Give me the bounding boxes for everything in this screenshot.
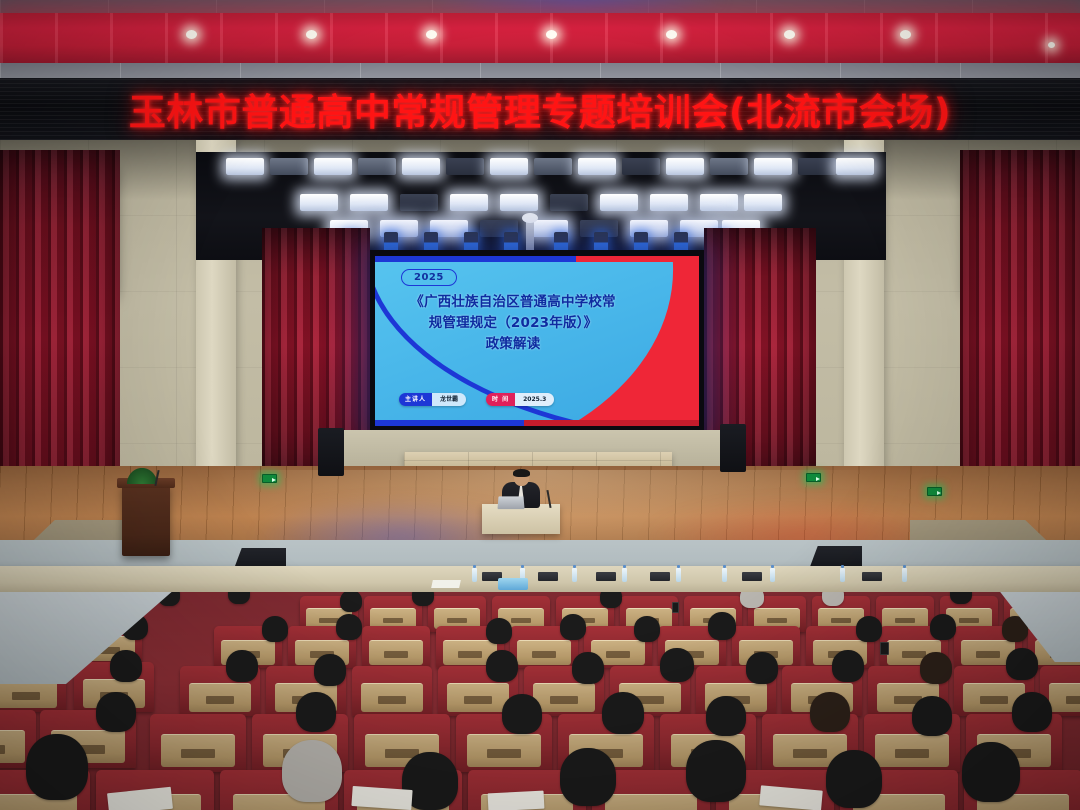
lectern <box>122 484 170 556</box>
document-on-table <box>431 580 461 588</box>
seat <box>362 626 430 668</box>
cove-downlight <box>900 30 911 39</box>
attendee-head <box>856 616 882 642</box>
presenter-name: 龙世霸 <box>432 393 466 406</box>
cove-downlight <box>666 30 677 39</box>
stage-lamp <box>500 194 538 211</box>
stage-lamp <box>300 194 338 211</box>
presentation-slide: 2025 《广西壮族自治区普通高中学校常 规管理规定（2023年版）》 政策解读… <box>375 256 699 426</box>
attendee-head <box>486 618 512 644</box>
truss-row-middle <box>292 194 790 220</box>
cove-downlight <box>186 30 197 39</box>
attendee-head <box>634 616 660 642</box>
attendee-head <box>822 592 844 606</box>
attendee-head <box>1012 692 1052 732</box>
potted-plant <box>127 468 157 484</box>
stage-lamp-housing <box>710 158 748 175</box>
stage-lamp <box>650 194 688 211</box>
stage-lamp-off <box>622 158 660 175</box>
stage-lamp <box>450 194 488 211</box>
attendee-head <box>706 696 746 736</box>
attendee-head <box>930 614 956 640</box>
stage-lamp <box>600 194 638 211</box>
water-bottle <box>572 568 577 582</box>
cove-downlight <box>546 30 557 39</box>
name-plate <box>862 572 882 581</box>
name-plate <box>650 572 670 581</box>
slide-bottom-bar <box>375 420 699 426</box>
slide-title-line-2: 规管理规定（2023年版）》 <box>385 313 641 334</box>
attendee-head <box>560 614 586 640</box>
cove-downlight <box>306 30 317 39</box>
attendee-head <box>740 592 764 608</box>
time-label: 时 间 <box>486 393 515 406</box>
stage-lamp-off <box>550 194 588 211</box>
attendee-head <box>810 692 850 732</box>
attendee-head <box>110 650 142 682</box>
attendee-head <box>412 592 434 606</box>
stage-lamp-housing <box>270 158 308 175</box>
stage-lamp <box>744 194 782 211</box>
attendee-head <box>572 652 604 684</box>
slide-title-line-3: 政策解读 <box>385 334 641 355</box>
audience-seating <box>0 592 1080 810</box>
stage-lamp <box>836 158 874 175</box>
time-value: 2025.3 <box>515 393 554 406</box>
presenter-laptop <box>497 496 524 509</box>
stage-lamp-off <box>400 194 438 211</box>
stage-lamp <box>754 158 792 175</box>
handout-document <box>488 791 545 810</box>
stage-lamp <box>666 158 704 175</box>
attendee-head-foreground <box>560 748 616 806</box>
slide-meta-row: 主讲人 龙世霸 时 间 2025.3 <box>399 393 554 406</box>
attendee-head <box>502 694 542 734</box>
water-bottle <box>770 568 775 582</box>
slide-title-line-1: 《广西壮族自治区普通高中学校常 <box>385 292 641 313</box>
attendee-head <box>226 650 258 682</box>
slide-top-bar <box>375 256 699 262</box>
stage-lamp <box>490 158 528 175</box>
seat <box>150 714 246 772</box>
attendee-head <box>746 652 778 684</box>
presenter-hair <box>513 469 530 477</box>
attendee-head <box>486 650 518 682</box>
water-bottle <box>472 568 477 582</box>
attendee-head <box>262 616 288 642</box>
blue-storage-box <box>498 578 528 590</box>
attendee-head-foreground <box>962 742 1020 802</box>
slide-time-chip: 时 间 2025.3 <box>486 393 554 406</box>
attendee-head <box>314 654 346 686</box>
truss-row-top <box>204 158 878 184</box>
attendee-head-foreground <box>826 750 882 808</box>
stage-lamp <box>226 158 264 175</box>
name-plate <box>596 572 616 581</box>
seat <box>352 666 432 716</box>
attendee-head <box>600 592 622 608</box>
slide-title: 《广西壮族自治区普通高中学校常 规管理规定（2023年版）》 政策解读 <box>385 292 641 355</box>
led-projection-screen: 2025 《广西壮族自治区普通高中学校常 规管理规定（2023年版）》 政策解读… <box>370 250 704 432</box>
stage-lamp <box>402 158 440 175</box>
attendee-head <box>296 692 336 732</box>
exit-sign-right <box>806 473 821 482</box>
attendee-head <box>708 612 736 640</box>
attendee-head-foreground <box>282 740 342 802</box>
exit-sign-left <box>262 474 277 483</box>
stage-lamp-housing <box>358 158 396 175</box>
attendee-head <box>920 652 952 684</box>
attendee-head <box>96 692 136 732</box>
exit-sign-far-right <box>927 487 942 496</box>
name-plate <box>742 572 762 581</box>
attendee-head-foreground <box>686 740 746 802</box>
cove-downlight <box>784 30 795 39</box>
attendee-head <box>660 648 694 682</box>
attendee-head <box>228 592 250 604</box>
water-bottle <box>840 568 845 582</box>
led-banner: 玉林市普通高中常规管理专题培训会(北流市会场) <box>0 78 1080 140</box>
water-bottle <box>676 568 681 582</box>
attendee-head <box>832 650 864 682</box>
stage-lamp <box>578 158 616 175</box>
water-bottle <box>622 568 627 582</box>
stage-lamp-off <box>446 158 484 175</box>
stage-lamp <box>314 158 352 175</box>
attendee-head <box>340 592 362 612</box>
smartphone <box>880 642 889 655</box>
attendee-head <box>912 696 952 736</box>
water-bottle <box>902 568 907 582</box>
conference-hall-photo: 玉林市普通高中常规管理专题培训会(北流市会场) <box>0 0 1080 810</box>
attendee-head <box>336 614 362 640</box>
banner-title-text: 玉林市普通高中常规管理专题培训会(北流市会场) <box>129 82 951 136</box>
presenter-label: 主讲人 <box>399 393 432 406</box>
stage-lamp-housing <box>534 158 572 175</box>
attendee-head-foreground <box>26 734 88 800</box>
handout-document <box>351 786 412 810</box>
smartphone <box>672 602 679 613</box>
water-bottle <box>722 568 727 582</box>
cove-downlight <box>426 30 437 39</box>
stage-speaker-cabinet-left <box>318 428 344 476</box>
cove-downlight <box>1048 42 1055 48</box>
attendee-head <box>1006 648 1038 680</box>
stage-lamp <box>700 194 738 211</box>
slide-presenter-chip: 主讲人 龙世霸 <box>399 393 466 406</box>
red-ceiling-cove <box>0 13 1080 63</box>
slide-year-badge: 2025 <box>401 269 457 286</box>
attendee-head <box>602 692 644 734</box>
stage-lamp <box>350 194 388 211</box>
stage-lamp-off <box>798 158 836 175</box>
name-plate <box>538 572 558 581</box>
stage-speaker-cabinet-right <box>720 424 746 472</box>
